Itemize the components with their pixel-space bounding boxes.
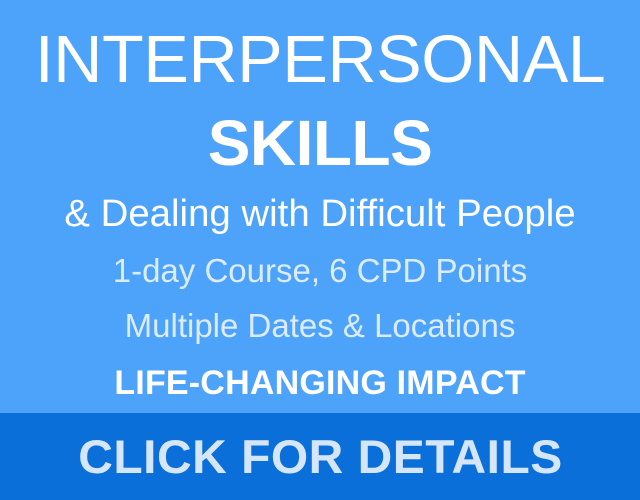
promo-banner[interactable]: INTERPERSONAL SKILLS & Dealing with Diff… xyxy=(0,0,640,500)
cta-button[interactable]: CLICK FOR DETAILS xyxy=(0,413,640,500)
cta-button-label: CLICK FOR DETAILS xyxy=(78,433,563,480)
headline-primary-line1: INTERPERSONAL xyxy=(0,26,640,93)
headline-primary-line2: SKILLS xyxy=(0,111,640,175)
impact-tagline: LIFE-CHANGING IMPACT xyxy=(0,366,640,400)
dates-locations-detail: Multiple Dates & Locations xyxy=(0,309,640,342)
banner-content: INTERPERSONAL SKILLS & Dealing with Diff… xyxy=(0,0,640,413)
headline-subtitle: & Dealing with Difficult People xyxy=(0,195,640,233)
course-format-detail: 1-day Course, 6 CPD Points xyxy=(0,254,640,287)
